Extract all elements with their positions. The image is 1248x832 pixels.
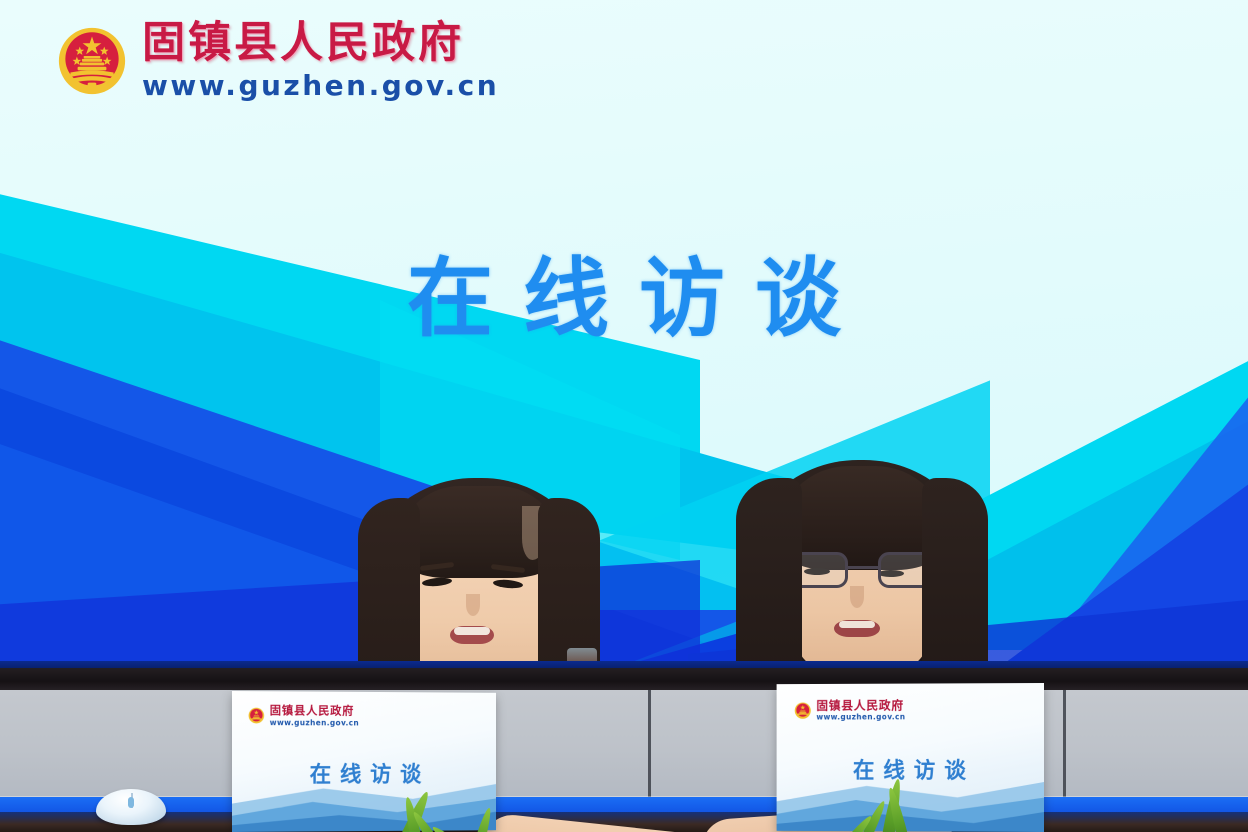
participant-right-nose: [850, 586, 864, 608]
mouse-scroll-wheel: [128, 797, 134, 808]
placard-left-title: 在线访谈: [232, 757, 496, 789]
desk-panel-seam-center: [648, 690, 651, 800]
placard-left-logo: 固镇县人民政府 www.guzhen.gov.cn: [248, 705, 359, 726]
desk-front-panel: [0, 690, 1248, 800]
participant-left-mouth: [450, 626, 494, 644]
placard-left-logo-text: 固镇县人民政府 www.guzhen.gov.cn: [270, 705, 359, 726]
desk-dark-band: [0, 668, 1248, 692]
participant-left-nose: [466, 594, 480, 616]
government-logo: 固镇县人民政府 www.guzhen.gov.cn: [56, 22, 499, 100]
logo-text-block: 固镇县人民政府 www.guzhen.gov.cn: [142, 22, 499, 100]
broadcast-screenshot: 固镇县人民政府 www.guzhen.gov.cn 在线访谈: [0, 0, 1248, 832]
placard-right-title: 在线访谈: [777, 753, 1044, 785]
placard-left-national-emblem-icon: [248, 707, 265, 724]
eyeglass-bridge: [848, 566, 878, 569]
participant-left-teeth: [454, 627, 490, 635]
desk-placard-right: 固镇县人民政府 www.guzhen.gov.cn 在线访谈: [777, 683, 1044, 832]
placard-left-url: www.guzhen.gov.cn: [270, 719, 359, 727]
placard-left-org-name: 固镇县人民政府: [270, 705, 359, 717]
participant-right-mouth: [834, 620, 880, 637]
participant-right-teeth: [839, 621, 875, 628]
national-emblem-icon: [56, 25, 128, 97]
desk-front-edge: [0, 812, 1248, 832]
placard-right-logo-text: 固镇县人民政府 www.guzhen.gov.cn: [816, 699, 905, 721]
desk-placard-left: 固镇县人民政府 www.guzhen.gov.cn 在线访谈: [232, 691, 496, 832]
logo-org-name: 固镇县人民政府: [142, 22, 499, 65]
desk-panel-seam-right: [1063, 690, 1066, 800]
eyeglasses-icon: [786, 552, 940, 588]
placard-right-national-emblem-icon: [794, 702, 811, 720]
placard-right-logo: 固镇县人民政府 www.guzhen.gov.cn: [794, 699, 905, 721]
logo-website-url: www.guzhen.gov.cn: [142, 72, 499, 100]
computer-mouse-icon[interactable]: [96, 789, 166, 825]
placard-right-url: www.guzhen.gov.cn: [816, 713, 905, 721]
placard-right-org-name: 固镇县人民政府: [816, 699, 905, 711]
